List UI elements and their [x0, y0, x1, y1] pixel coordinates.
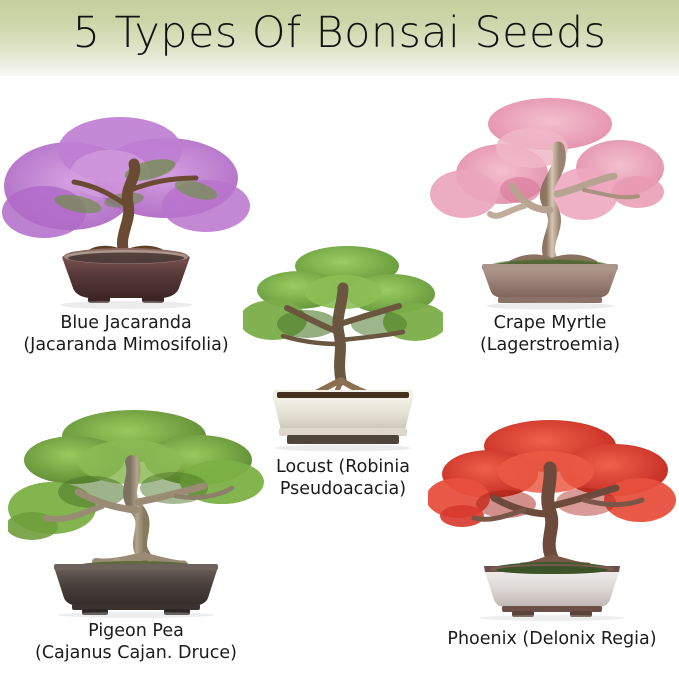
plant-card-jacaranda: Blue Jacaranda (Jacaranda Mimosifolia): [0, 82, 252, 356]
plant-card-pigeonpea: Pigeon Pea (Cajanus Cajan. Druce): [8, 400, 264, 664]
caption-phoenix: Phoenix (Delonix Regia): [428, 628, 676, 650]
scientific-name-myrtle: (Lagerstroemia): [424, 334, 676, 356]
scientific-name-jacaranda: (Jacaranda Mimosifolia): [0, 334, 252, 356]
pot-locust: [273, 390, 413, 452]
caption-jacaranda: Blue Jacaranda (Jacaranda Mimosifolia): [0, 312, 252, 356]
pot-jacaranda: [60, 248, 192, 309]
bonsai-image-myrtle: [424, 82, 676, 310]
caption-locust: Locust (Robinia Pseudoacacia): [243, 456, 443, 500]
caption-pigeonpea: Pigeon Pea (Cajanus Cajan. Druce): [8, 620, 264, 664]
bonsai-image-locust: [243, 232, 443, 454]
caption-myrtle: Crape Myrtle (Lagerstroemia): [424, 312, 676, 356]
pot-pigeonpea: [54, 561, 218, 618]
common-name-phoenix: Phoenix (Delonix Regia): [428, 628, 676, 650]
common-name-locust: Locust (Robinia: [243, 456, 443, 478]
plant-card-myrtle: Crape Myrtle (Lagerstroemia): [424, 82, 676, 356]
common-name-pigeonpea: Pigeon Pea: [8, 620, 264, 642]
page-title: 5 Types Of Bonsai Seeds: [0, 8, 679, 58]
bonsai-image-phoenix: [428, 412, 676, 624]
scientific-name-locust: Pseudoacacia): [243, 478, 443, 500]
bonsai-image-pigeonpea: [8, 400, 264, 618]
pot-phoenix: [480, 562, 624, 621]
scientific-name-pigeonpea: (Cajanus Cajan. Druce): [8, 642, 264, 664]
plant-card-phoenix: Phoenix (Delonix Regia): [428, 412, 676, 650]
bonsai-image-jacaranda: [0, 82, 252, 310]
common-name-myrtle: Crape Myrtle: [424, 312, 676, 334]
poster-root: 5 Types Of Bonsai Seeds: [0, 0, 679, 674]
common-name-jacaranda: Blue Jacaranda: [0, 312, 252, 334]
pot-myrtle: [482, 259, 618, 310]
plant-card-locust: Locust (Robinia Pseudoacacia): [243, 232, 443, 500]
